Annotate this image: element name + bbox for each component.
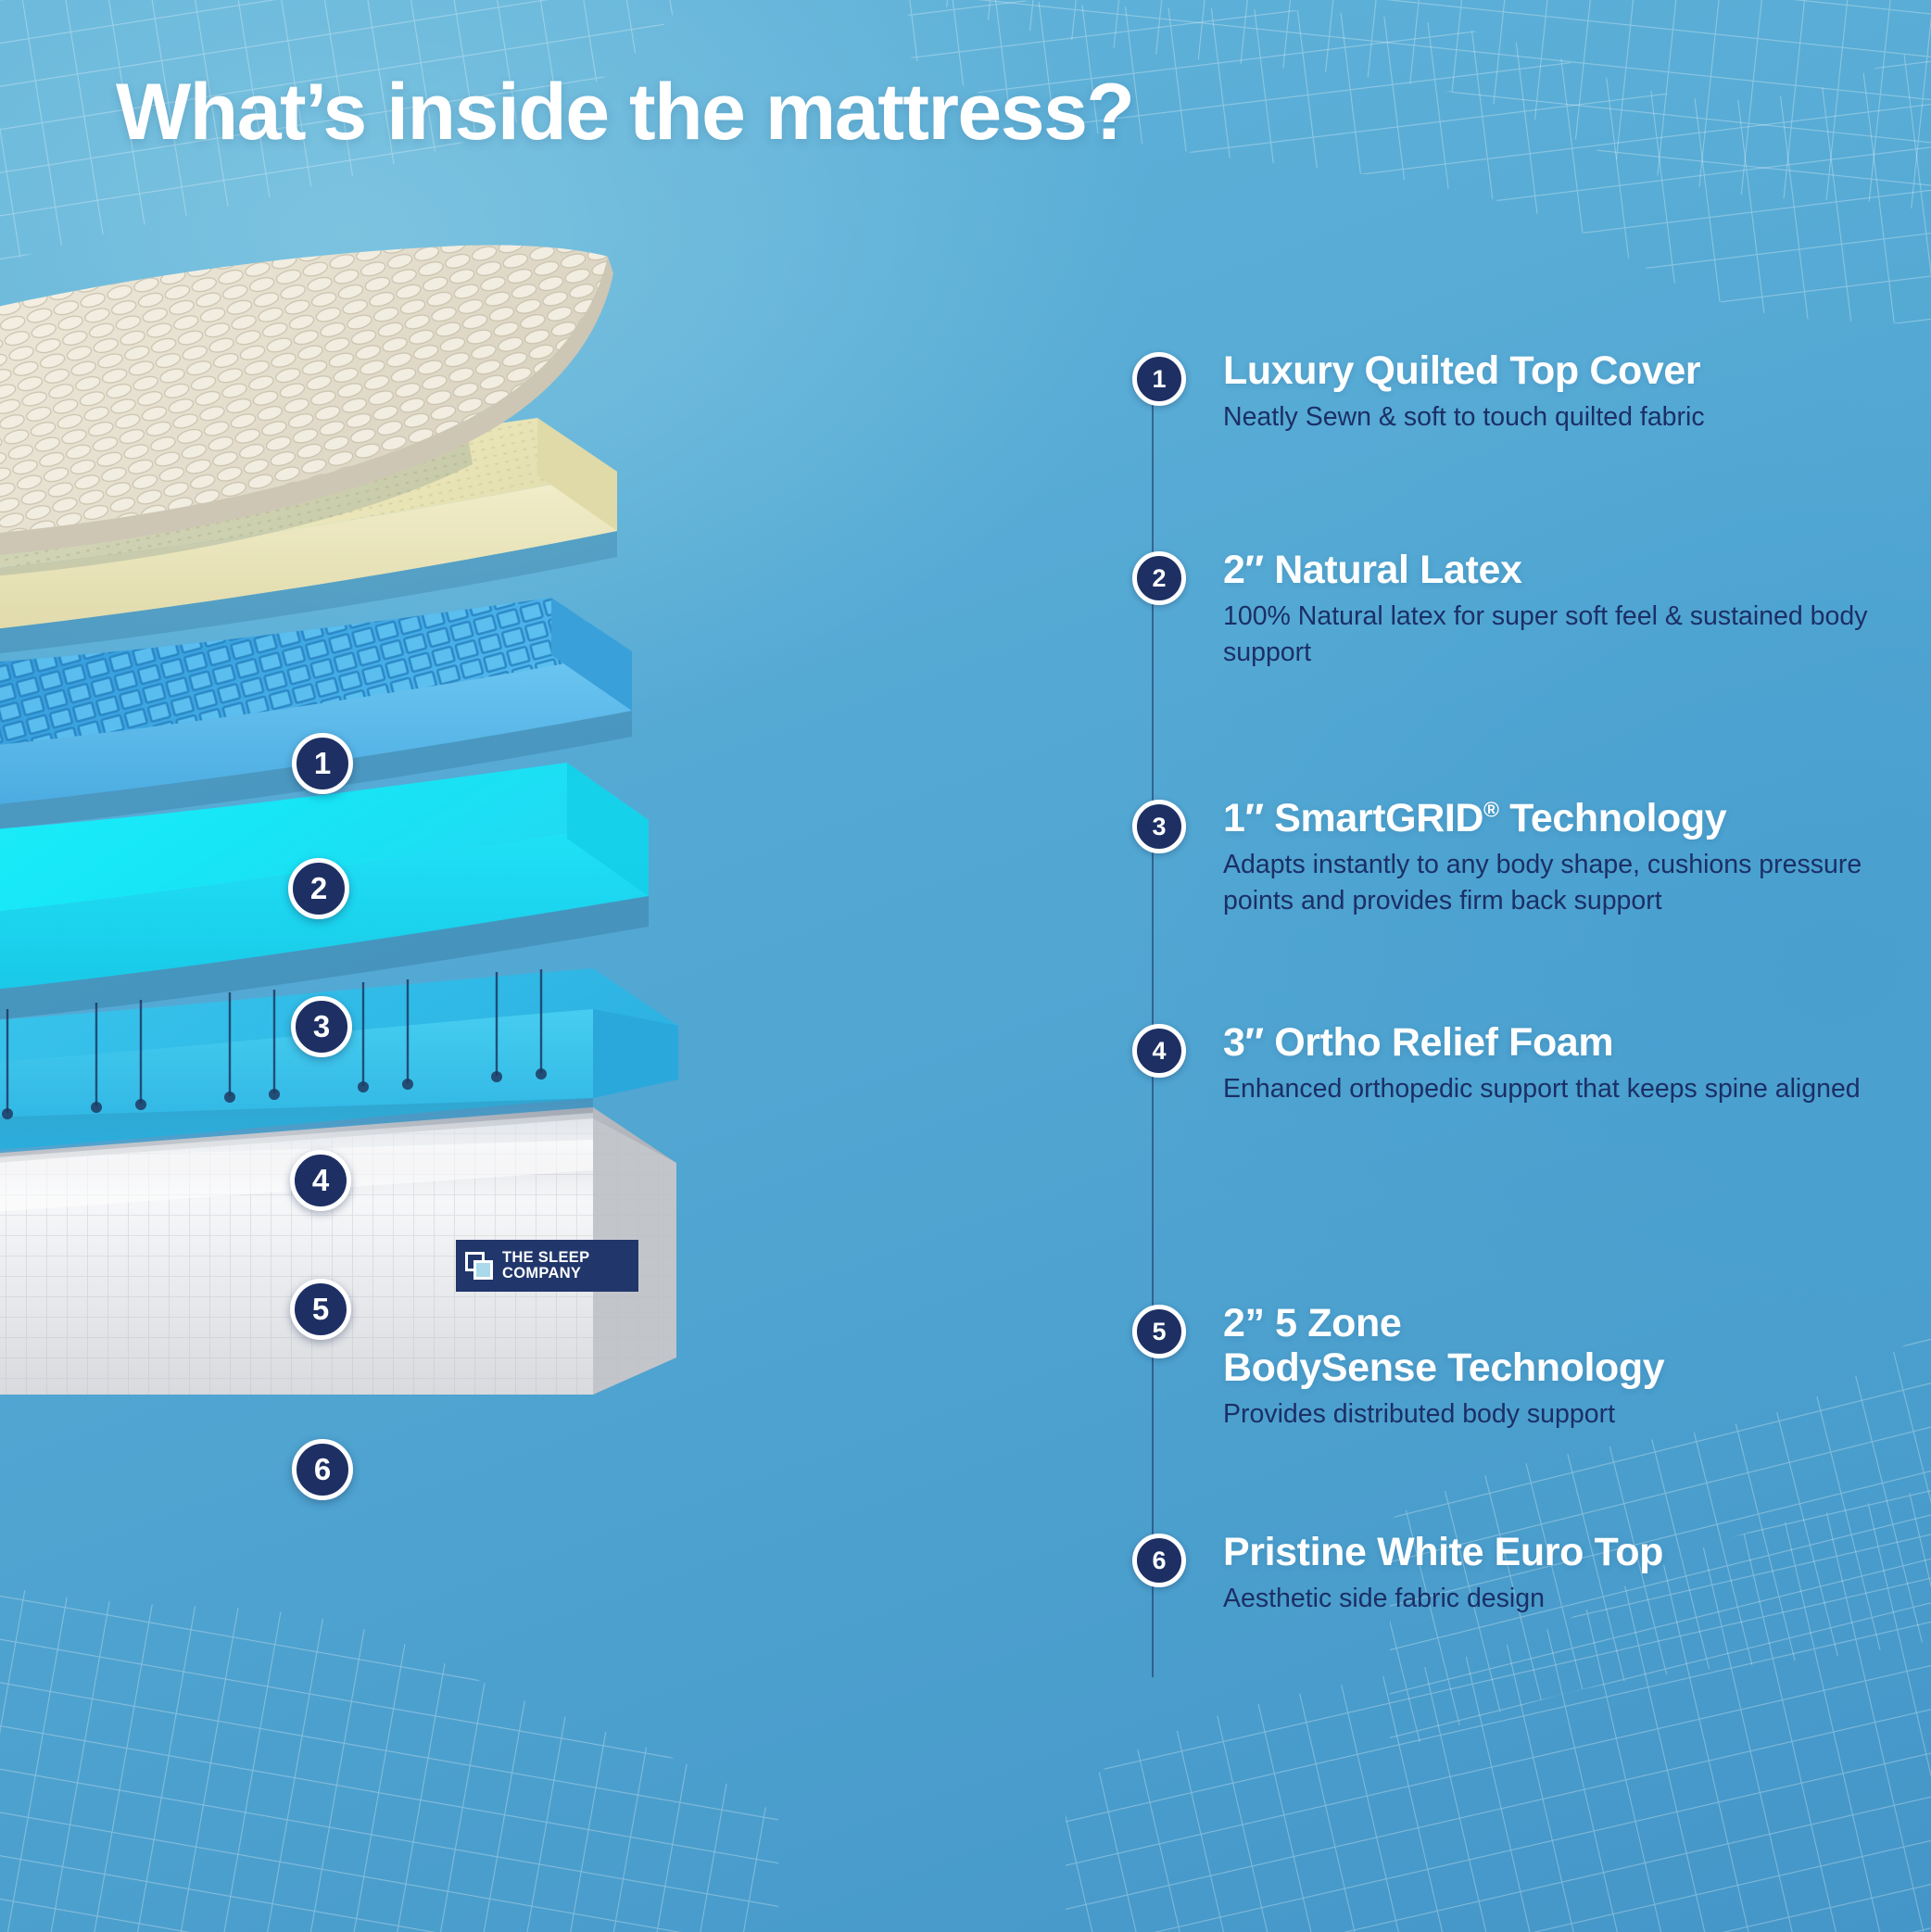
brand-logo: THE SLEEP COMPANY <box>456 1240 638 1292</box>
mattress-layer-badge-1: 1 <box>292 733 353 794</box>
feature-desc-1: Neatly Sewn & soft to touch quilted fabr… <box>1223 399 1899 436</box>
feature-title-5: 2” 5 Zone BodySense Technology <box>1223 1301 1899 1390</box>
mattress-layer-badge-4: 4 <box>290 1150 351 1211</box>
feature-title-3-text: 1″ SmartGRID <box>1223 796 1483 840</box>
mattress-layer-badge-2: 2 <box>288 858 349 919</box>
feature-desc-5: Provides distributed body support <box>1223 1396 1899 1433</box>
brand-name-line2: COMPANY <box>502 1265 581 1282</box>
feature-badge-4: 4 <box>1132 1024 1186 1078</box>
feature-title-5-text2: BodySense Technology <box>1223 1345 1664 1390</box>
brand-name-line1: THE SLEEP <box>502 1249 589 1266</box>
feature-title-5-text: 2” 5 Zone <box>1223 1301 1401 1345</box>
feature-badge-3: 3 <box>1132 800 1186 853</box>
feature-title-1: Luxury Quilted Top Cover <box>1223 348 1899 393</box>
feature-badge-5: 5 <box>1132 1305 1186 1358</box>
mattress-layer-badge-6: 6 <box>292 1439 353 1500</box>
registered-trademark-icon: ® <box>1483 798 1499 822</box>
feature-title-3: 1″ SmartGRID® Technology <box>1223 796 1899 840</box>
feature-badge-6: 6 <box>1132 1534 1186 1587</box>
mattress-illustration: 1 2 3 4 5 6 <box>0 236 741 1395</box>
page-title: What’s inside the mattress? <box>116 67 1133 158</box>
mattress-layer-badge-3: 3 <box>291 996 352 1057</box>
mattress-layer-badge-5: 5 <box>290 1279 351 1340</box>
feature-title-1-text: Luxury Quilted Top Cover <box>1223 348 1700 393</box>
feature-title-6-text: Pristine White Euro Top <box>1223 1530 1663 1574</box>
feature-desc-3: Adapts instantly to any body shape, cush… <box>1223 847 1899 919</box>
feature-title-2-text: 2″ Natural Latex <box>1223 548 1521 592</box>
feature-title-4-text: 3″ Ortho Relief Foam <box>1223 1020 1613 1065</box>
overlapping-squares-icon <box>465 1252 494 1281</box>
feature-title-3-text2: Technology <box>1499 796 1727 840</box>
feature-desc-2: 100% Natural latex for super soft feel &… <box>1223 599 1899 671</box>
brand-logo-text: THE SLEEP COMPANY <box>502 1250 589 1282</box>
feature-desc-4: Enhanced orthopedic support that keeps s… <box>1223 1071 1899 1107</box>
feature-title-2: 2″ Natural Latex <box>1223 548 1899 592</box>
feature-badge-2: 2 <box>1132 551 1186 605</box>
feature-badge-1: 1 <box>1132 352 1186 406</box>
feature-title-4: 3″ Ortho Relief Foam <box>1223 1020 1899 1065</box>
feature-title-6: Pristine White Euro Top <box>1223 1530 1899 1574</box>
feature-desc-6: Aesthetic side fabric design <box>1223 1581 1899 1617</box>
